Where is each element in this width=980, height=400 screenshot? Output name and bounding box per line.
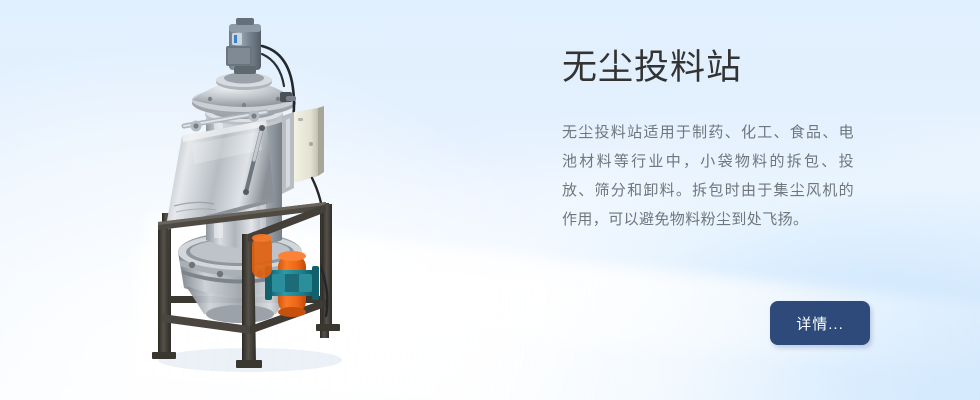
product-image [110,8,390,388]
banner-copy: 无尘投料站 无尘投料站适用于制药、化工、食品、电池材料等行业中，小袋物料的拆包、… [562,46,872,234]
banner-description: 无尘投料站适用于制药、化工、食品、电池材料等行业中，小袋物料的拆包、投放、筛分和… [562,118,854,234]
detail-button[interactable]: 详情... [770,301,870,345]
page-title: 无尘投料站 [562,46,872,90]
hero-banner: 无尘投料站 无尘投料站适用于制药、化工、食品、电池材料等行业中，小袋物料的拆包、… [0,0,980,400]
